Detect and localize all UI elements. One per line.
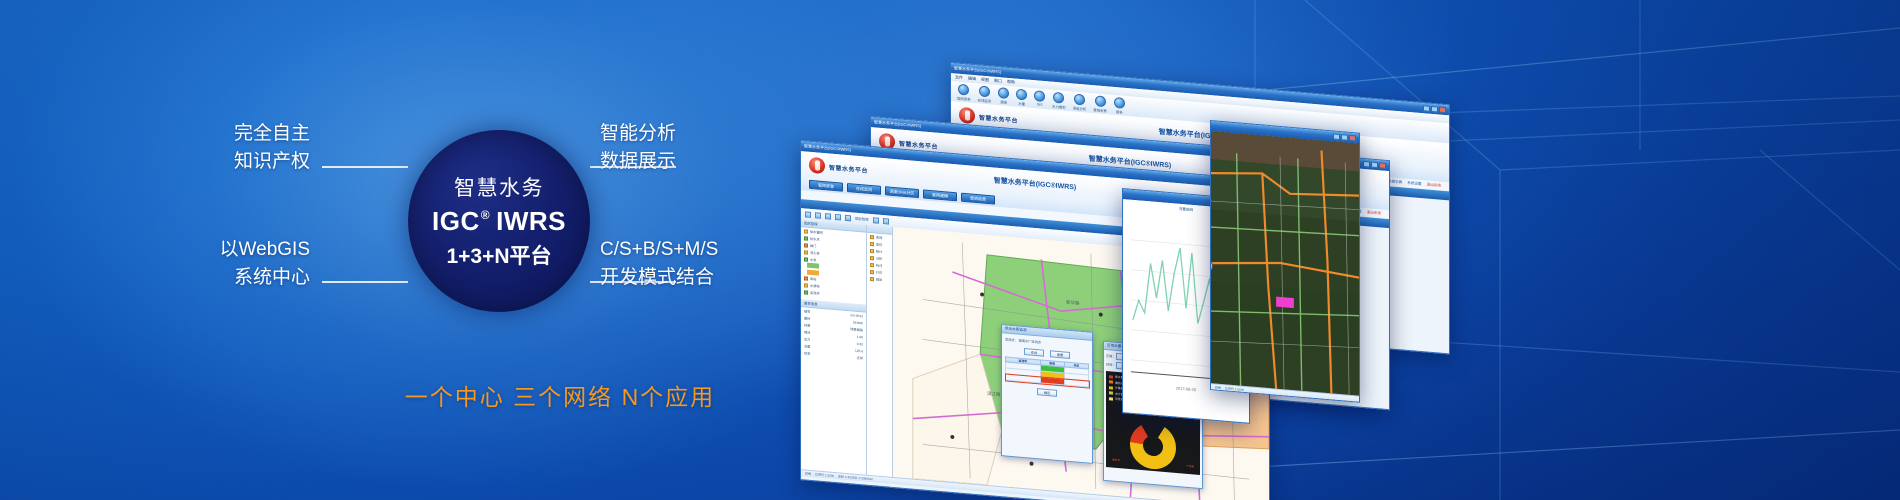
gauge-right-label: 产销差 (1186, 464, 1194, 469)
leakage-icon (998, 87, 1009, 99)
print-icon[interactable] (883, 218, 889, 225)
map-tool-item[interactable]: 输出 (867, 275, 892, 284)
layer-label: 阀门 (810, 243, 816, 249)
attr-value: DN300 (853, 320, 863, 325)
attr-name: 流量 (804, 343, 810, 349)
toolbar-button[interactable]: 水量 (1016, 88, 1027, 106)
status-scale: 比例尺 1:5000 (815, 472, 834, 478)
zoom-in-icon[interactable] (815, 212, 821, 219)
map-tool-column[interactable]: 查询 定位 统计 分析 标注 打印 输出 (867, 225, 893, 477)
gauge-left-label: 漏损率 (1112, 458, 1120, 463)
layer-label: 泵站 (810, 276, 816, 282)
quick-link-logout[interactable]: 退出系统 (1427, 183, 1441, 189)
status-ready: 就绪 (805, 471, 811, 476)
menu-item-edit[interactable]: 编辑 (968, 76, 976, 83)
satellite-map-window[interactable]: 就绪 比例尺 1:5000 (1210, 120, 1360, 403)
satellite-map-canvas[interactable] (1211, 131, 1359, 396)
attr-name: 管径 (804, 315, 810, 321)
layer-label: 监测点 (810, 290, 820, 296)
gis-icon (1034, 90, 1045, 102)
water-volume-icon (1016, 88, 1027, 100)
layer-panel[interactable]: 图层管理 供水管网 给水点 阀门 消火栓 水表 泵站 水源地 监测点 属性信息 … (801, 219, 867, 475)
banner-root: 智慧水务平台(IGC®IWRS) 文件 编辑 视图 窗口 帮助 管网普查 在线监… (0, 0, 1900, 500)
layer-label: 水源地 (810, 283, 820, 289)
logo-text: 智慧水务平台 (829, 162, 868, 174)
logo-text: 智慧水务平台 (979, 112, 1018, 124)
nav-button[interactable]: 调度DMA分区 (885, 186, 919, 198)
toolbar-button[interactable]: GIS (1034, 90, 1045, 107)
toolbar-button[interactable]: 营销收费 (1093, 95, 1107, 113)
ok-button[interactable]: 确定 (1037, 388, 1057, 397)
feature-bottom-left: 以WebGIS 系统中心 (150, 236, 310, 291)
nav-button[interactable]: 管网建模 (923, 189, 957, 201)
toolbar-button[interactable]: 调度分析 (1073, 93, 1087, 111)
company-logo-icon (959, 107, 975, 124)
feature-top-right: 智能分析 数据展示 (600, 120, 790, 175)
toolbar-label: 报表 (1116, 109, 1123, 115)
status-ready: 就绪 (1215, 385, 1221, 390)
attr-value: 1.80 (857, 334, 863, 339)
platform-title: 智慧水务平台(IGC®IWRS) (994, 175, 1077, 192)
feature-line-2: 系统中心 (150, 264, 310, 292)
map-toolbar-label: 图层管理 (855, 216, 869, 222)
attr-value: GX-0012 (850, 313, 863, 318)
pan-icon[interactable] (805, 211, 811, 218)
attr-name: 埋深 (804, 329, 810, 335)
toolbar-button[interactable]: 管网普查 (957, 83, 971, 101)
attr-name: 压力 (804, 336, 810, 342)
toolbar-label: 水力模型 (1052, 103, 1066, 109)
toolbar-label: 漏损 (1000, 99, 1007, 105)
reset-button[interactable]: 重置 (1050, 350, 1070, 359)
nav-button[interactable]: 营销收费 (961, 193, 995, 205)
feature-line-1: 智能分析 (600, 120, 790, 148)
layer-label: 消火栓 (810, 250, 820, 256)
report-icon (1114, 96, 1125, 108)
window-controls[interactable] (1423, 105, 1446, 113)
feature-top-left: 完全自主 知识产权 (150, 120, 310, 175)
tagline: 一个中心 三个网络 N个应用 (360, 378, 760, 412)
attr-value: 0.32 (857, 341, 863, 346)
zoom-out-icon[interactable] (825, 213, 831, 220)
zoom-slider[interactable] (1210, 180, 1211, 251)
layer-label: 水表 (810, 257, 816, 263)
measure-icon[interactable] (845, 214, 851, 221)
attr-value: 正常 (857, 355, 863, 361)
online-monitor-icon (979, 85, 990, 97)
attr-name: 状态 (804, 350, 810, 356)
toolbar-button[interactable]: 漏损 (998, 87, 1009, 105)
toolbar-label: 在线监测 (978, 97, 992, 103)
monitor-dialog-body: 监测点： 城南水厂监测点 查询 重置 监测项 数值 (1002, 333, 1092, 403)
toolbar-label: 营销收费 (1093, 107, 1107, 113)
toolbar-button[interactable]: 在线监测 (978, 85, 992, 103)
hub-title: 智慧水务 (454, 172, 544, 202)
billing-icon (1095, 95, 1106, 107)
status-coords: 坐标 X:420531 Y:3398012 (838, 474, 873, 481)
area-select-label: 区域： (1106, 354, 1116, 359)
hub-brand-row: IGC®IWRS (432, 206, 566, 237)
gauge-ring (1130, 421, 1176, 471)
quick-link-logout[interactable]: 退出系统 (1367, 210, 1381, 216)
quick-link[interactable]: 数据字典 (1388, 179, 1402, 185)
menu-item-view[interactable]: 视图 (981, 77, 989, 84)
attr-name: 编号 (804, 308, 810, 314)
quick-link[interactable]: 系统设置 (1407, 181, 1421, 187)
feature-line-1: 以WebGIS (150, 236, 310, 264)
monitor-field-label: 监测点： (1005, 337, 1018, 342)
hub-product: IWRS (496, 206, 566, 237)
dispatch-analysis-icon (1074, 93, 1085, 105)
toolbar-label: GIS (1037, 102, 1043, 106)
pipeline-survey-icon (958, 83, 969, 95)
nav-button[interactable]: 管网普查 (809, 180, 843, 192)
toolbar-label: 水量 (1018, 100, 1025, 106)
feature-line-1: 完全自主 (150, 120, 310, 148)
hydraulic-model-icon (1053, 91, 1064, 103)
query-button[interactable]: 查询 (1024, 348, 1044, 357)
hub-circle: 智慧水务 IGC®IWRS 1+3+N平台 (408, 130, 590, 312)
nav-button[interactable]: 在线监测 (847, 183, 881, 195)
feature-line-1: C/S+B/S+M/S (600, 236, 800, 264)
toolbar-label: 调度分析 (1073, 105, 1087, 111)
select-icon[interactable] (835, 213, 841, 220)
identify-icon[interactable] (873, 217, 879, 224)
hub-brand: IGC (432, 206, 480, 237)
window-controls[interactable] (1363, 161, 1386, 169)
feature-line-2: 开发模式结合 (600, 264, 800, 292)
connector-bottom-left (322, 281, 408, 283)
attr-value: 球墨铸铁 (850, 326, 863, 332)
monitor-table: 监测项 数值 状态 (1005, 356, 1089, 387)
company-logo-icon (809, 157, 825, 174)
layer-label: 给水点 (810, 236, 820, 242)
layer-label: 供水管网 (810, 229, 823, 235)
attr-name: 材质 (804, 322, 810, 328)
connector-top-left (322, 166, 408, 168)
monitor-dialog[interactable]: 供水水质监测 监测点： 城南水厂监测点 查询 重置 (1001, 324, 1093, 464)
monitor-field-value[interactable]: 城南水厂监测点 (1019, 339, 1041, 345)
hub-platform: 1+3+N平台 (446, 240, 551, 270)
feature-line-2: 知识产权 (150, 148, 310, 176)
legend-swatch-green (807, 263, 819, 269)
svg-text:2017-08-28: 2017-08-28 (1176, 386, 1197, 393)
date-label: 时间： (1106, 363, 1116, 368)
menu-item-file[interactable]: 文件 (955, 74, 963, 81)
menu-item-window[interactable]: 窗口 (994, 78, 1002, 85)
menu-item-help[interactable]: 帮助 (1007, 79, 1015, 86)
feature-bottom-right: C/S+B/S+M/S 开发模式结合 (600, 236, 800, 291)
toolbar-button[interactable]: 报表 (1114, 96, 1125, 114)
toolbar-button[interactable]: 水力模型 (1052, 91, 1066, 109)
attr-value: 125.6 (855, 348, 863, 353)
registered-icon: ® (481, 208, 490, 222)
status-scale: 比例尺 1:5000 (1225, 386, 1244, 392)
toolbar-label: 管网普查 (957, 95, 971, 101)
feature-line-2: 数据展示 (600, 148, 790, 176)
window-controls[interactable] (1333, 133, 1356, 141)
screenshot-stack: 智慧水务平台(IGC®IWRS) 文件 编辑 视图 窗口 帮助 管网普查 在线监… (780, 20, 1900, 480)
